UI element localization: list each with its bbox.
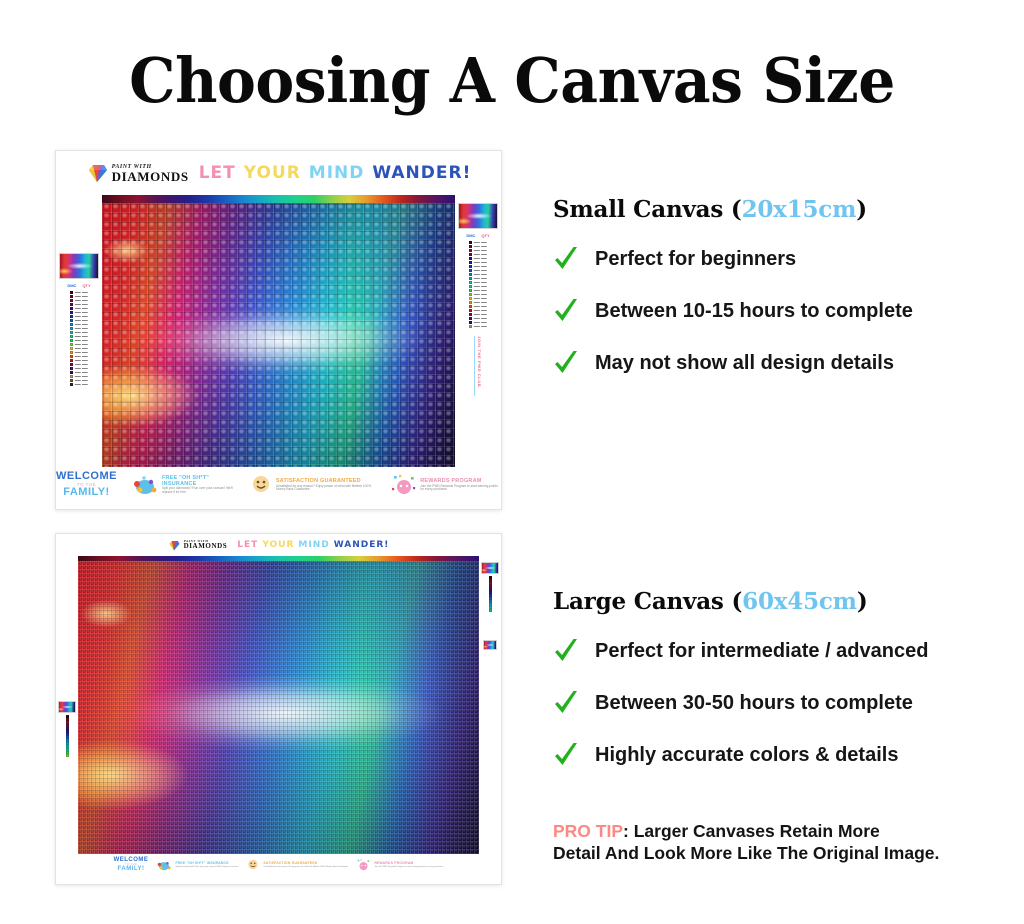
- paint-splash-icon-small: [131, 473, 159, 497]
- dmc-color-swatch: [469, 241, 472, 244]
- large-canvas-heading: Large Canvas (60x45cm): [553, 588, 1023, 615]
- aurora-artwork-large: [78, 561, 479, 854]
- canvas-artwork-small: [102, 195, 455, 467]
- canvas-tagline-large: LET YOUR MIND WANDER!: [237, 540, 389, 550]
- dmc-chart-right-small: DMC QTY ▬▬▬▬▬▬▬▬▬▬▬▬▬▬▬▬▬▬▬▬▬▬▬▬▬▬▬▬▬▬▬▬…: [455, 195, 501, 467]
- dmc-chart-left-small: DMC QTY ▬▬▬▬▬▬▬▬▬▬▬▬▬▬▬▬▬▬▬▬▬▬▬▬▬▬▬▬▬▬▬▬…: [56, 195, 102, 467]
- badge-welcome-large: WELCOME TO THE FAMILY!: [114, 857, 149, 872]
- badge-rewards-sub-small: Join the PWD Rewards Program to start ea…: [420, 485, 501, 492]
- tagline-word-let-large: LET: [237, 540, 258, 550]
- badge-insurance-text-small: FREE "OH SH*T" INSURANCE Spill your diam…: [162, 476, 235, 494]
- dmc-color-swatch: [70, 319, 73, 322]
- dmc-color-swatch: [469, 253, 472, 256]
- dmc-color-swatch: [469, 301, 472, 304]
- large-canvas-copy-block: Large Canvas (60x45cm) Perfect for inter…: [553, 588, 1023, 769]
- dmc-color-swatch: [70, 379, 73, 382]
- dmc-code: ▬▬: [474, 324, 480, 328]
- page-title: Choosing A Canvas Size: [31, 44, 994, 117]
- feature-item: Highly accurate colors & details: [553, 741, 1023, 769]
- check-icon: [553, 689, 579, 717]
- chart-divider-small: [474, 336, 475, 396]
- diamond-logo-icon: [86, 163, 108, 183]
- qty-col-label-right-small: QTY: [481, 233, 489, 238]
- dmc-color-swatch: [469, 277, 472, 280]
- dmc-color-swatch: [469, 309, 472, 312]
- pro-tip-line-1-rest: : Larger Canvases Retain More: [623, 821, 880, 841]
- dmc-color-swatch: [70, 355, 73, 358]
- dmc-color-swatch: [70, 347, 73, 350]
- canvas-tagline-small: LET YOUR MIND WANDER!: [199, 163, 472, 183]
- dmc-chart-rows-right-small: ▬▬▬▬▬▬▬▬▬▬▬▬▬▬▬▬▬▬▬▬▬▬▬▬▬▬▬▬▬▬▬▬▬▬▬▬▬▬▬▬…: [469, 240, 486, 328]
- dmc-color-swatch: [469, 313, 472, 316]
- dmc-color-swatch: [70, 351, 73, 354]
- dmc-code: ▬▬: [75, 382, 81, 386]
- dmc-color-swatch: [70, 383, 73, 386]
- badge-insurance-large: FREE "OH SH*T" INSURANCE Spill your diam…: [156, 858, 238, 872]
- welcome-line3-small: FAMILY!: [63, 487, 110, 499]
- badge-rewards-small: REWARDS PROGRAM Join the PWD Rewards Pro…: [391, 473, 501, 497]
- dmc-color-swatch: [70, 335, 73, 338]
- brand-wordmark-large: PAINT WITH DIAMONDS: [184, 540, 228, 550]
- paint-splash-icon-large: [156, 858, 172, 872]
- canvas-badges-large: WELCOME TO THE FAMILY! FREE "OH SH*T" IN…: [56, 854, 501, 876]
- artwork-thumbnail-left-small: [59, 253, 99, 279]
- badge-rewards-large: REWARDS PROGRAM Join the PWD Rewards Pro…: [356, 858, 443, 872]
- canvas-badges-small: WELCOME TO THE FAMILY! FREE "OH SH*T" IN…: [56, 467, 501, 503]
- badge-insurance-text-large: FREE "OH SH*T" INSURANCE Spill your diam…: [175, 862, 238, 868]
- canvas-artwork-large: [78, 556, 479, 854]
- welcome-line1-small: WELCOME: [56, 471, 117, 483]
- dmc-color-swatch: [70, 375, 73, 378]
- tagline-word-your-small: YOUR: [244, 163, 301, 183]
- brand-logo-large: PAINT WITH DIAMONDS: [168, 540, 228, 551]
- confetti-monster-icon-small: [391, 473, 417, 497]
- dmc-color-swatch: [469, 285, 472, 288]
- dmc-color-swatch: [66, 754, 69, 757]
- dmc-color-swatch: [70, 315, 73, 318]
- canvas-brand-header-small: PAINT WITH DIAMONDS LET YOUR MIND WANDER…: [56, 151, 501, 195]
- large-canvas-heading-close: ): [857, 588, 868, 615]
- badge-satisfaction-sub-small: Unsatisfied for any reason? Enjoy peace …: [276, 485, 377, 492]
- dmc-color-swatch: [469, 273, 472, 276]
- artwork-thumbnail-right-large: [481, 562, 499, 574]
- check-icon: [553, 637, 579, 665]
- feature-label: Perfect for intermediate / advanced: [595, 640, 928, 663]
- small-canvas-heading-label: Small Canvas (: [553, 196, 742, 223]
- qty-col-label-small: QTY: [82, 283, 90, 288]
- dmc-color-swatch: [469, 257, 472, 260]
- brand-wordmark-small: PAINT WITH DIAMONDS: [112, 164, 189, 183]
- badge-rewards-sub-large: Join the PWD Rewards Program to start ea…: [374, 866, 443, 868]
- pro-tip-line-1: PRO TIP: Larger Canvases Retain More: [553, 820, 1023, 842]
- page-root: Choosing A Canvas Size PAINT WITH DIAMON…: [0, 0, 1024, 924]
- dmc-color-swatch: [70, 311, 73, 314]
- dmc-chart-rows-left-large: [66, 715, 69, 757]
- feature-label: Perfect for beginners: [595, 248, 796, 271]
- dmc-color-swatch: [70, 303, 73, 306]
- dmc-color-swatch: [70, 323, 73, 326]
- dmc-color-swatch: [469, 289, 472, 292]
- dmc-chart-right-large: [479, 556, 501, 854]
- small-canvas-heading: Small Canvas (20x15cm): [553, 196, 1023, 223]
- badge-insurance-sub-large: Spill your diamonds? Run over your canva…: [175, 866, 238, 868]
- dmc-color-swatch: [70, 307, 73, 310]
- dmc-chart-rows-left-small: ▬▬▬▬▬▬▬▬▬▬▬▬▬▬▬▬▬▬▬▬▬▬▬▬▬▬▬▬▬▬▬▬▬▬▬▬▬▬▬▬…: [70, 290, 87, 386]
- dmc-chart-row: [66, 754, 69, 757]
- dmc-qty: ▬▬: [82, 382, 88, 386]
- happy-face-icon-large: [246, 858, 260, 872]
- dmc-color-swatch: [70, 339, 73, 342]
- badge-insurance-small: FREE "OH SH*T" INSURANCE Spill your diam…: [131, 473, 235, 497]
- welcome-line3-large: FAMILY!: [118, 866, 145, 872]
- large-canvas-heading-label: Large Canvas (: [553, 588, 742, 615]
- badge-welcome-small: WELCOME TO THE FAMILY!: [56, 471, 117, 499]
- large-canvas-mockup: PAINT WITH DIAMONDS LET YOUR MIND WANDER…: [55, 533, 502, 885]
- confetti-monster-icon-large: [356, 858, 371, 872]
- feature-label: May not show all design details: [595, 352, 894, 375]
- dmc-color-swatch: [70, 359, 73, 362]
- canvas-body-small: DMC QTY ▬▬▬▬▬▬▬▬▬▬▬▬▬▬▬▬▬▬▬▬▬▬▬▬▬▬▬▬▬▬▬▬…: [56, 195, 501, 467]
- dmc-color-swatch: [70, 343, 73, 346]
- check-icon: [553, 297, 579, 325]
- pwd-club-note-small: JOIN THE PWD CLUB: [474, 336, 482, 396]
- artwork-thumbnail-right-small: [458, 203, 498, 229]
- dmc-chart-header-right-small: DMC QTY: [466, 233, 489, 238]
- check-icon: [553, 349, 579, 377]
- dmc-chart-left-large: [56, 556, 78, 854]
- badge-satisfaction-large: SATISFACTION GUARANTEED Unsatisfied for …: [246, 858, 348, 872]
- dmc-col-label-small: DMC: [67, 283, 76, 288]
- dmc-color-swatch: [70, 331, 73, 334]
- large-canvas-feature-list: Perfect for intermediate / advanced Betw…: [553, 637, 1023, 769]
- happy-face-icon-small: [249, 473, 273, 497]
- badge-satisfaction-small: SATISFACTION GUARANTEED Unsatisfied for …: [249, 473, 377, 497]
- dmc-color-swatch: [469, 249, 472, 252]
- brand-diamonds-large: DIAMONDS: [184, 543, 228, 550]
- dmc-color-swatch: [489, 609, 492, 612]
- tagline-word-mind-small: MIND: [309, 163, 365, 183]
- dmc-color-swatch: [70, 363, 73, 366]
- dmc-chart-row: ▬▬▬▬: [70, 382, 87, 386]
- badge-satisfaction-sub-large: Unsatisfied for any reason? Enjoy peace …: [263, 866, 348, 868]
- tagline-word-mind-large: MIND: [298, 540, 329, 550]
- dmc-color-swatch: [70, 291, 73, 294]
- artwork-thumbnail-right2-large: [483, 640, 497, 650]
- badge-satisfaction-text-large: SATISFACTION GUARANTEED Unsatisfied for …: [263, 862, 348, 868]
- brand-diamonds-small: DIAMONDS: [112, 170, 189, 183]
- feature-label: Between 30-50 hours to complete: [595, 692, 913, 715]
- dmc-color-swatch: [469, 293, 472, 296]
- brand-logo-small: PAINT WITH DIAMONDS: [86, 163, 189, 183]
- dmc-color-swatch: [469, 265, 472, 268]
- dmc-color-swatch: [70, 371, 73, 374]
- check-icon: [553, 245, 579, 273]
- dmc-color-swatch: [469, 297, 472, 300]
- check-icon: [553, 741, 579, 769]
- dmc-color-swatch: [70, 295, 73, 298]
- feature-item: Perfect for intermediate / advanced: [553, 637, 1023, 665]
- artwork-thumbnail-left-large: [58, 701, 76, 713]
- badge-insurance-sub-small: Spill your diamonds? Run over your canva…: [162, 487, 235, 494]
- small-canvas-copy-block: Small Canvas (20x15cm) Perfect for begin…: [553, 196, 1023, 377]
- dmc-color-swatch: [469, 317, 472, 320]
- dmc-color-swatch: [469, 261, 472, 264]
- small-canvas-heading-close: ): [856, 196, 867, 223]
- dmc-qty: ▬▬: [481, 324, 487, 328]
- dmc-color-swatch: [469, 269, 472, 272]
- tagline-word-wander-small: WANDER!: [372, 163, 471, 183]
- pro-tip-line-2: Detail And Look More Like The Original I…: [553, 842, 1023, 864]
- dmc-color-strip-small: [102, 195, 455, 203]
- pwd-club-text-small: JOIN THE PWD CLUB: [477, 336, 482, 396]
- badge-rewards-text-small: REWARDS PROGRAM Join the PWD Rewards Pro…: [420, 479, 501, 491]
- tagline-word-your-large: YOUR: [262, 540, 294, 550]
- tagline-word-let-small: LET: [199, 163, 236, 183]
- dmc-color-swatch: [469, 325, 472, 328]
- dmc-chart-header-left-small: DMC QTY: [67, 283, 90, 288]
- dmc-chart-row: ▬▬▬▬: [469, 324, 486, 328]
- pro-tip-label: PRO TIP: [553, 821, 623, 841]
- feature-label: Between 10-15 hours to complete: [595, 300, 913, 323]
- feature-item: Perfect for beginners: [553, 245, 1023, 273]
- small-canvas-mockup: PAINT WITH DIAMONDS LET YOUR MIND WANDER…: [55, 150, 502, 510]
- large-canvas-dimensions: 60x45cm: [742, 588, 857, 615]
- dmc-color-swatch: [469, 281, 472, 284]
- diamond-logo-icon: [168, 540, 180, 551]
- feature-item: May not show all design details: [553, 349, 1023, 377]
- tagline-word-wander-large: WANDER!: [334, 540, 390, 550]
- dmc-color-swatch: [70, 367, 73, 370]
- canvas-body-large: [56, 556, 501, 854]
- dmc-color-swatch: [70, 327, 73, 330]
- aurora-artwork-small: [102, 203, 455, 467]
- feature-item: Between 10-15 hours to complete: [553, 297, 1023, 325]
- dmc-color-swatch: [469, 305, 472, 308]
- dmc-chart-row: [489, 609, 492, 612]
- canvas-brand-header-large: PAINT WITH DIAMONDS LET YOUR MIND WANDER…: [56, 534, 501, 556]
- dmc-col-label-right-small: DMC: [466, 233, 475, 238]
- dmc-color-swatch: [469, 321, 472, 324]
- badge-rewards-text-large: REWARDS PROGRAM Join the PWD Rewards Pro…: [374, 862, 443, 868]
- pro-tip-block: PRO TIP: Larger Canvases Retain More Det…: [553, 820, 1023, 865]
- dmc-color-swatch: [469, 245, 472, 248]
- dmc-chart-rows-right-large: [489, 576, 492, 612]
- feature-label: Highly accurate colors & details: [595, 744, 898, 767]
- small-canvas-feature-list: Perfect for beginners Between 10-15 hour…: [553, 245, 1023, 377]
- small-canvas-dimensions: 20x15cm: [742, 196, 857, 223]
- feature-item: Between 30-50 hours to complete: [553, 689, 1023, 717]
- badge-satisfaction-text-small: SATISFACTION GUARANTEED Unsatisfied for …: [276, 479, 377, 491]
- dmc-color-swatch: [70, 299, 73, 302]
